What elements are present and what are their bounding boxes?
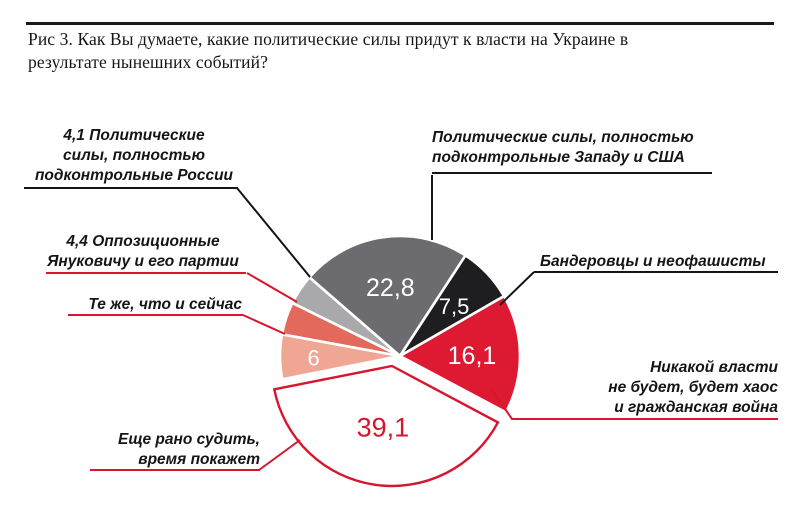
label-same-as-now: Те же, что и сейчас (40, 295, 242, 315)
slice-value-too-early: 39,1 (357, 413, 410, 443)
label-rule-banderovtsy (534, 271, 778, 273)
leader-line-russia (237, 188, 310, 277)
leader-line-same-as-now (243, 315, 285, 334)
slice-value-same-as-now: 6 (307, 346, 319, 371)
label-rule-chaos (540, 418, 778, 420)
leader-line-opposition (247, 273, 297, 302)
label-russia: 4,1 Политические силы, полностью подконт… (30, 126, 238, 186)
label-banderovtsy: Бандеровцы и неофашисты (540, 252, 790, 272)
label-west-usa: Политические силы, полностью подконтроль… (432, 128, 732, 168)
slice-value-chaos: 16,1 (448, 342, 497, 370)
label-rule-too-early (90, 469, 260, 471)
figure-container: Рис 3. Как Вы думаете, какие политически… (0, 0, 800, 510)
label-rule-russia (24, 187, 238, 189)
label-too-early: Еще рано судить, время покажет (60, 430, 260, 470)
label-rule-opposition (46, 272, 246, 274)
label-rule-same-as-now (68, 314, 243, 316)
slice-value-banderovtsy: 7,5 (439, 294, 470, 319)
slice-value-west-usa: 22,8 (366, 274, 415, 302)
label-chaos: Никакой власти не будет, будет хаос и гр… (546, 358, 778, 418)
leader-line-too-early (259, 440, 300, 470)
leader-line-banderovtsy (500, 272, 534, 305)
label-opposition: 4,4 Оппозиционные Януковичу и его партии (40, 232, 246, 272)
label-rule-west-usa (432, 172, 712, 174)
